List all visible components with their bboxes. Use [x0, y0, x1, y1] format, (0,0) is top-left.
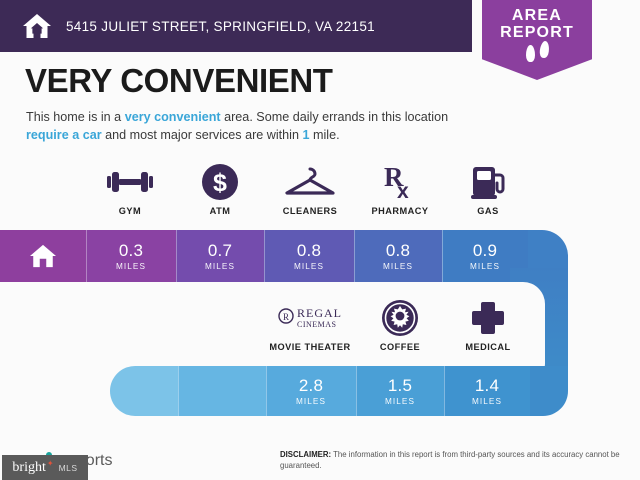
distance-segment: 0.7 MILES: [176, 230, 264, 282]
distance-value: 0.3: [119, 242, 143, 259]
amenity-column-cleaners: CLEANERS: [266, 160, 354, 216]
desc-text-4: mile.: [310, 128, 340, 142]
desc-highlight-2: require a car: [26, 128, 102, 142]
distance-value: 0.8: [386, 242, 410, 259]
desc-highlight-3: 1: [302, 128, 309, 142]
svg-text:$: $: [213, 169, 227, 197]
amenity-label: GYM: [86, 206, 174, 216]
amenity-label: CLEANERS: [266, 206, 354, 216]
amenity-column-gym: GYM: [86, 160, 174, 216]
bar-lead-1: [110, 366, 178, 416]
svg-text:REGAL: REGAL: [297, 306, 342, 320]
amenity-label: MEDICAL: [444, 342, 532, 352]
header-bar: 5415 JULIET STREET, SPRINGFIELD, VA 2215…: [0, 0, 472, 52]
badge-line2: REPORT: [482, 25, 592, 42]
distance-unit: MILES: [383, 262, 413, 271]
amenity-label: GAS: [444, 206, 532, 216]
distance-value: 1.5: [388, 377, 412, 394]
medical-cross-icon: [444, 296, 532, 340]
distance-value: 1.4: [475, 377, 499, 394]
amenity-icon-row-1: GYM $ ATM CLEANERS R: [0, 160, 640, 226]
distance-value: 0.8: [297, 242, 321, 259]
home-icon: [14, 12, 60, 40]
distance-unit: MILES: [205, 262, 235, 271]
distance-unit: MILES: [472, 397, 502, 406]
desc-text-3: and most major services are within: [102, 128, 303, 142]
distance-segment: 0.3 MILES: [86, 230, 176, 282]
disclaimer: DISCLAIMER: The information in this repo…: [280, 450, 628, 471]
distance-bar-row-2: 2.8 MILES 1.5 MILES 1.4 MILES: [110, 366, 568, 416]
bright-mls-logo: bright✦MLS: [2, 455, 88, 480]
amenity-column-gas: GAS: [444, 160, 532, 216]
property-address: 5415 JULIET STREET, SPRINGFIELD, VA 2215…: [66, 19, 375, 34]
summary-description: This home is in a very convenient area. …: [26, 108, 466, 145]
distance-value: 0.9: [473, 242, 497, 259]
gas-pump-icon: [444, 160, 532, 204]
amenity-column-pharmacy: R x PHARMACY: [356, 160, 444, 216]
bright-mls-suffix: MLS: [59, 463, 78, 473]
badge-line1: AREA: [482, 7, 592, 25]
distance-unit: MILES: [296, 397, 326, 406]
distance-segment: 1.5 MILES: [356, 366, 444, 416]
disclaimer-label: DISCLAIMER:: [280, 450, 331, 459]
distance-unit: MILES: [470, 262, 500, 271]
bar-lead-2: [178, 366, 266, 416]
amenity-label: MOVIE THEATER: [266, 342, 354, 352]
bright-mls-star-icon: ✦: [47, 459, 54, 468]
amenity-column-atm: $ ATM: [176, 160, 264, 216]
area-report-page: 5415 JULIET STREET, SPRINGFIELD, VA 2215…: [0, 0, 640, 480]
bar-tail-2: [530, 366, 568, 416]
distance-value: 0.7: [208, 242, 232, 259]
svg-text:CINEMAS: CINEMAS: [297, 320, 337, 329]
amenity-label: PHARMACY: [356, 206, 444, 216]
distance-unit: MILES: [116, 262, 146, 271]
distance-unit: MILES: [385, 397, 415, 406]
distance-value: 2.8: [299, 377, 323, 394]
distance-segment: 0.8 MILES: [264, 230, 354, 282]
home-icon: [29, 243, 57, 269]
amenity-label: ATM: [176, 206, 264, 216]
footprints-icon: [482, 45, 592, 62]
svg-text:R: R: [283, 312, 289, 322]
dollar-circle-icon: $: [176, 160, 264, 204]
dumbbell-icon: [86, 160, 174, 204]
rx-icon: R x: [356, 160, 444, 204]
home-marker-segment: [0, 230, 86, 282]
distance-segment: 0.8 MILES: [354, 230, 442, 282]
svg-text:x: x: [397, 180, 409, 202]
distance-segment: 2.8 MILES: [266, 366, 356, 416]
desc-highlight-1: very convenient: [125, 110, 221, 124]
distance-bar-row-1: 0.3 MILES 0.7 MILES 0.8 MILES 0.8 MILES …: [0, 230, 568, 282]
bright-mls-name: bright: [12, 460, 45, 476]
hanger-icon: [266, 160, 354, 204]
amenity-column-movie-theater: R REGAL CINEMAS MOVIE THEATER: [266, 296, 354, 352]
page-title: VERY CONVENIENT: [25, 62, 333, 100]
amenity-column-medical: MEDICAL: [444, 296, 532, 352]
distance-unit: MILES: [294, 262, 324, 271]
amenity-label: COFFEE: [356, 342, 444, 352]
area-report-badge: AREA REPORT: [482, 0, 592, 80]
desc-text-1: This home is in a: [26, 110, 125, 124]
regal-cinemas-icon: R REGAL CINEMAS: [266, 296, 354, 340]
desc-text-2: area. Some daily errands in this locatio…: [221, 110, 449, 124]
disclaimer-text: The information in this report is from t…: [280, 450, 620, 470]
distance-segment: 1.4 MILES: [444, 366, 530, 416]
amenity-icon-row-2: R REGAL CINEMAS MOVIE THEATER COFFEE: [0, 296, 640, 362]
starbucks-icon: [356, 296, 444, 340]
amenity-column-coffee: COFFEE: [356, 296, 444, 352]
